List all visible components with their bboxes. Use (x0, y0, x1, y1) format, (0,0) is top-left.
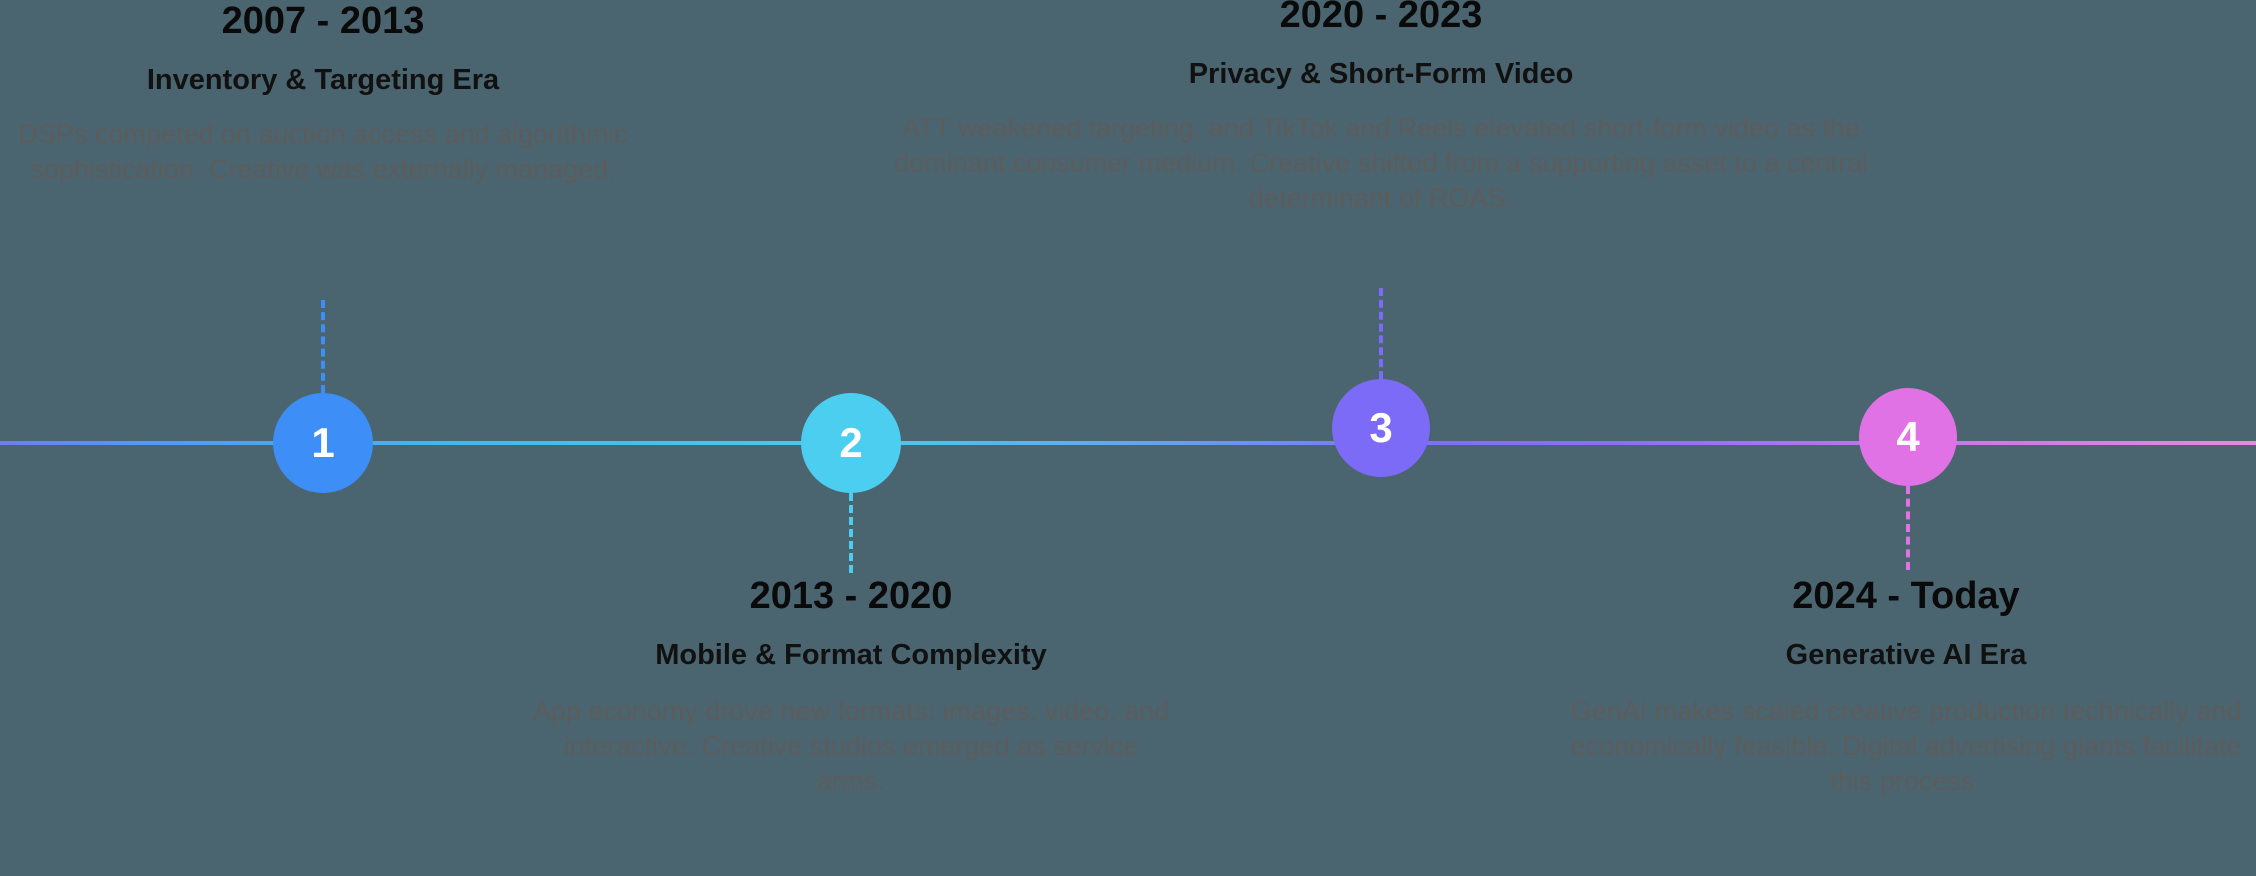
connector-line-1 (321, 300, 325, 393)
milestone-node-3[interactable]: 3 (1332, 379, 1430, 477)
milestone-node-2[interactable]: 2 (801, 393, 901, 493)
milestone-block-2: 2013 - 2020 Mobile & Format Complexity A… (528, 577, 1174, 800)
connector-line-2 (849, 493, 853, 573)
milestone-date-3: 2020 - 2023 (866, 0, 1896, 36)
connector-line-3 (1379, 288, 1383, 379)
milestone-date-1: 2007 - 2013 (0, 2, 646, 42)
milestone-node-1[interactable]: 1 (273, 393, 373, 493)
milestone-block-4: 2024 - Today Generative AI Era GenAI mak… (1548, 577, 2256, 800)
milestone-title-4: Generative AI Era (1548, 639, 2256, 672)
milestone-node-4[interactable]: 4 (1859, 388, 1957, 486)
milestone-title-3: Privacy & Short-Form Video (866, 58, 1896, 91)
milestone-node-label-2: 2 (839, 419, 862, 467)
milestone-date-2: 2013 - 2020 (528, 577, 1174, 617)
milestone-title-2: Mobile & Format Complexity (528, 639, 1174, 672)
milestone-node-label-4: 4 (1896, 413, 1919, 461)
milestone-date-4: 2024 - Today (1548, 577, 2256, 617)
milestone-block-3: 2020 - 2023 Privacy & Short-Form Video A… (866, 0, 1896, 217)
timeline-diagram: 1 2 3 4 2007 - 2013 Inventory & Targetin… (0, 0, 2256, 876)
milestone-title-1: Inventory & Targeting Era (0, 64, 646, 97)
milestone-description-4: GenAI makes scaled creative production t… (1548, 694, 2256, 799)
milestone-description-1: DSPs competed on auction access and algo… (0, 117, 646, 187)
milestone-node-label-3: 3 (1369, 404, 1392, 452)
connector-line-4 (1906, 486, 1910, 570)
milestone-description-2: App economy drove new formats: images, v… (528, 694, 1174, 799)
milestone-node-label-1: 1 (311, 419, 334, 467)
milestone-description-3: ATT weakened targeting, and TikTok and R… (866, 111, 1896, 216)
milestone-block-1: 2007 - 2013 Inventory & Targeting Era DS… (0, 2, 646, 187)
